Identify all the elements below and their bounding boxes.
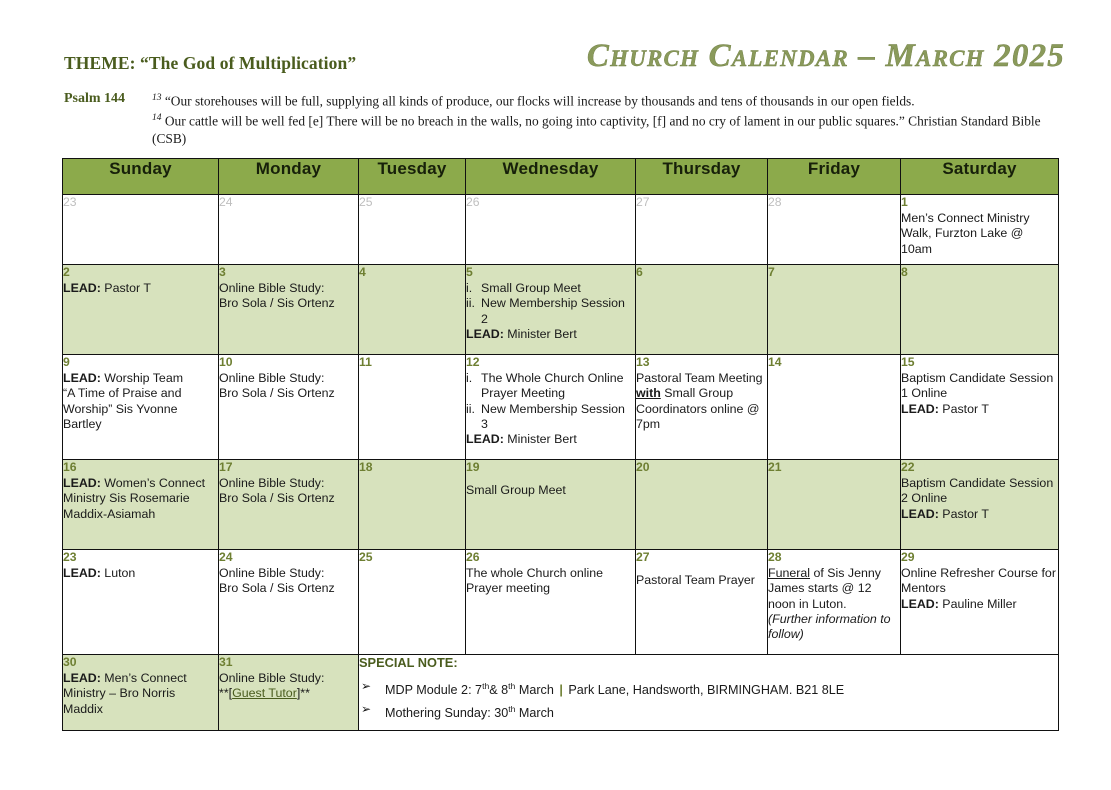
day-number: 20 (636, 460, 767, 475)
day-cell-2[interactable]: 2 LEAD: Pastor T (63, 265, 219, 355)
day-cell-16[interactable]: 16 LEAD: Women’s Connect Ministry Sis Ro… (63, 460, 219, 550)
day-number: 14 (768, 355, 900, 370)
day-cell-25[interactable]: 25 (359, 550, 466, 655)
list-item: ii.New Membership Session 2 (466, 296, 635, 326)
lead-label: LEAD: (63, 671, 101, 685)
event-text: Small Group Meet (466, 483, 635, 498)
day-number: 6 (636, 265, 767, 280)
day-number: 22 (901, 460, 1058, 475)
week-row-1: 23 24 25 26 27 28 1 Me (63, 195, 1059, 265)
weekday-thursday: Thursday (636, 159, 768, 195)
event-text: LEAD: Pastor T (901, 507, 1058, 522)
event-list: i.Small Group Meet ii.New Membership Ses… (466, 281, 635, 327)
calendar-page: THEME: “The God of Multiplication” Churc… (0, 0, 1111, 790)
lead-label: LEAD: (63, 566, 101, 580)
day-cell-13[interactable]: 13 Pastoral Team Meeting with Small Grou… (636, 355, 768, 460)
day-cell-17[interactable]: 17 Online Bible Study: Bro Sola / Sis Or… (219, 460, 359, 550)
day-cell-27[interactable]: 27 Pastoral Team Prayer (636, 550, 768, 655)
day-number: 26 (466, 195, 635, 210)
event-text: The Whole Church Online Prayer Meeting (481, 371, 624, 400)
event-text: Online Bible Study: (219, 371, 358, 386)
event-text: LEAD: Pastor T (63, 281, 218, 296)
event-list: i.The Whole Church Online Prayer Meeting… (466, 371, 635, 432)
event-text: New Membership Session 2 (481, 296, 625, 325)
day-number: 23 (63, 550, 218, 565)
week-row-4: 16 LEAD: Women’s Connect Ministry Sis Ro… (63, 460, 1059, 550)
list-marker: ii. (466, 402, 481, 417)
day-cell-24[interactable]: 24 Online Bible Study: Bro Sola / Sis Or… (219, 550, 359, 655)
day-number: 28 (768, 195, 900, 210)
event-text: Walk, Furzton Lake @ (901, 226, 1058, 241)
day-number: 4 (359, 265, 465, 280)
day-number: 30 (63, 655, 218, 670)
day-cell-7[interactable]: 7 (768, 265, 901, 355)
list-item: i.The Whole Church Online Prayer Meeting (466, 371, 635, 401)
page-title: Church Calendar – March 2025 (455, 38, 1065, 75)
day-cell-feb-25[interactable]: 25 (359, 195, 466, 265)
day-cell-30[interactable]: 30 LEAD: Men’s Connect Ministry – Bro No… (63, 655, 219, 731)
event-text: Online Bible Study: (219, 281, 358, 296)
list-item: ➢ Mothering Sunday: 30th March (359, 700, 1058, 723)
event-text: Baptism Candidate Session 2 Online (901, 476, 1058, 506)
day-number: 16 (63, 460, 218, 475)
day-cell-19[interactable]: 19 Small Group Meet (466, 460, 636, 550)
day-number: 19 (466, 460, 635, 475)
day-number: 1 (901, 195, 1058, 210)
lead-value: Pastor T (101, 281, 151, 295)
verse-14-text: Our cattle will be well fed [e] There wi… (152, 113, 1041, 146)
event-text: LEAD: Pastor T (901, 402, 1058, 417)
note-text-tail: Park Lane, Handsworth, BIRMINGHAM. B21 8… (565, 683, 844, 697)
note-text-post: March (515, 683, 557, 697)
day-number: 12 (466, 355, 635, 370)
note-text-pre: MDP Module 2: 7 (385, 683, 482, 697)
event-emphasis: Funeral (768, 566, 810, 580)
day-cell-23[interactable]: 23 LEAD: Luton (63, 550, 219, 655)
lead-value: Pastor T (939, 402, 989, 416)
day-number: 25 (359, 195, 465, 210)
lead-label: LEAD: (901, 597, 939, 611)
event-text: LEAD: Minister Bert (466, 432, 635, 447)
list-item: ➢ MDP Module 2: 7th& 8th March | Park La… (359, 677, 1058, 700)
day-number: 13 (636, 355, 767, 370)
weekday-sunday: Sunday (63, 159, 219, 195)
day-number: 10 (219, 355, 358, 370)
event-text: Online Bible Study: (219, 566, 358, 581)
month-grid: Sunday Monday Tuesday Wednesday Thursday… (62, 158, 1059, 731)
day-number: 29 (901, 550, 1058, 565)
note-divider: | (557, 683, 565, 697)
event-text: Bro Sola / Sis Ortenz (219, 491, 358, 506)
theme-line: THEME: “The God of Multiplication” (64, 53, 356, 74)
note-text-mid: & 8 (489, 683, 508, 697)
day-number: 5 (466, 265, 635, 280)
week-row-6: 30 LEAD: Men’s Connect Ministry – Bro No… (63, 655, 1059, 731)
lead-value: Minister Bert (504, 327, 577, 341)
day-cell-29[interactable]: 29 Online Refresher Course for Mentors L… (901, 550, 1059, 655)
event-text: Online Bible Study: (219, 476, 358, 491)
lead-label: LEAD: (63, 371, 101, 385)
note-text-post: March (515, 706, 554, 720)
event-text: Online Bible Study: (219, 671, 358, 686)
list-marker: i. (466, 281, 481, 296)
day-number: 27 (636, 550, 767, 565)
week-row-5: 23 LEAD: Luton 24 Online Bible Study: Br… (63, 550, 1059, 655)
event-text: **[Guest Tutor]** (219, 686, 358, 701)
special-note-panel: SPECIAL NOTE: ➢ MDP Module 2: 7th& 8th M… (359, 655, 1059, 731)
day-number: 23 (63, 195, 218, 210)
verse-13-text: “Our storehouses will be full, supplying… (165, 93, 915, 108)
event-text: Bro Sola / Sis Ortenz (219, 581, 358, 596)
lead-label: LEAD: (466, 432, 504, 446)
arrow-icon: ➢ (361, 700, 371, 719)
event-text: LEAD: Women’s Connect Ministry Sis Rosem… (63, 476, 218, 522)
psalm-reference: Psalm 144 (64, 90, 148, 108)
list-marker: i. (466, 371, 481, 386)
lead-value: Worship Team (101, 371, 183, 385)
day-cell-20[interactable]: 20 (636, 460, 768, 550)
event-text: The whole Church online Prayer meeting (466, 566, 635, 596)
lead-value: Pauline Miller (939, 597, 1017, 611)
lead-label: LEAD: (901, 507, 939, 521)
day-number: 31 (219, 655, 358, 670)
event-text: LEAD: Worship Team (63, 371, 218, 386)
event-text: Men’s Connect Ministry (901, 211, 1058, 226)
day-number: 7 (768, 265, 900, 280)
event-emphasis: with (636, 386, 661, 400)
day-number: 2 (63, 265, 218, 280)
day-number: 21 (768, 460, 900, 475)
lead-value: Minister Bert (504, 432, 577, 446)
day-cell-31[interactable]: 31 Online Bible Study: **[Guest Tutor]** (219, 655, 359, 731)
page-header: THEME: “The God of Multiplication” Churc… (0, 0, 1111, 150)
list-marker: ii. (466, 296, 481, 311)
day-cell-22[interactable]: 22 Baptism Candidate Session 2 Online LE… (901, 460, 1059, 550)
weekday-monday: Monday (219, 159, 359, 195)
day-cell-10[interactable]: 10 Online Bible Study: Bro Sola / Sis Or… (219, 355, 359, 460)
day-number: 26 (466, 550, 635, 565)
arrow-icon: ➢ (361, 677, 371, 696)
day-number: 11 (359, 355, 465, 370)
lead-label: LEAD: (63, 476, 101, 490)
day-cell-4[interactable]: 4 (359, 265, 466, 355)
weekday-wednesday: Wednesday (466, 159, 636, 195)
event-text: Pastoral Team Prayer (636, 573, 767, 588)
scripture-block: Psalm 144 13 “Our storehouses will be fu… (64, 90, 1054, 147)
event-text: Bro Sola / Sis Ortenz (219, 296, 358, 311)
day-number: 25 (359, 550, 465, 565)
day-cell-18[interactable]: 18 (359, 460, 466, 550)
day-cell-feb-24[interactable]: 24 (219, 195, 359, 265)
note-text-pre: Mothering Sunday: 30 (385, 706, 508, 720)
verse-13-number: 13 (152, 93, 162, 103)
event-text-post: ]** (297, 686, 310, 700)
event-note: (Further information to follow) (768, 612, 900, 642)
week-row-2: 2 LEAD: Pastor T 3 Online Bible Study: B… (63, 265, 1059, 355)
week-row-3: 9 LEAD: Worship Team “A Time of Praise a… (63, 355, 1059, 460)
event-text: Funeral of Sis Jenny James starts @ 12 n… (768, 566, 900, 612)
day-number: 28 (768, 550, 900, 565)
day-cell-feb-27[interactable]: 27 (636, 195, 768, 265)
lead-label: LEAD: (466, 327, 504, 341)
special-note-list: ➢ MDP Module 2: 7th& 8th March | Park La… (359, 677, 1058, 723)
day-number: 27 (636, 195, 767, 210)
day-number: 8 (901, 265, 1058, 280)
psalm-body: 13 “Our storehouses will be full, supply… (152, 90, 1054, 147)
day-number: 24 (219, 550, 358, 565)
event-text: LEAD: Men’s Connect Ministry – Bro Norri… (63, 671, 218, 717)
day-number: 24 (219, 195, 358, 210)
list-item: i.Small Group Meet (466, 281, 635, 296)
event-text: Online Refresher Course for Mentors (901, 566, 1058, 596)
day-number: 3 (219, 265, 358, 280)
guest-tutor-link[interactable]: Guest Tutor (232, 686, 297, 700)
day-number: 17 (219, 460, 358, 475)
day-cell-11[interactable]: 11 (359, 355, 466, 460)
event-text: Pastoral Team Meeting with Small Group C… (636, 371, 767, 432)
day-cell-21[interactable]: 21 (768, 460, 901, 550)
event-text: LEAD: Pauline Miller (901, 597, 1058, 612)
day-cell-9[interactable]: 9 LEAD: Worship Team “A Time of Praise a… (63, 355, 219, 460)
lead-value: Luton (101, 566, 135, 580)
day-cell-12[interactable]: 12 i.The Whole Church Online Prayer Meet… (466, 355, 636, 460)
event-text: LEAD: Luton (63, 566, 218, 581)
verse-14-number: 14 (152, 113, 162, 123)
weekday-header-row: Sunday Monday Tuesday Wednesday Thursday… (63, 159, 1059, 195)
lead-value: Pastor T (939, 507, 989, 521)
day-number: 15 (901, 355, 1058, 370)
weekday-saturday: Saturday (901, 159, 1059, 195)
event-text-pre: Pastoral Team Meeting (636, 371, 763, 385)
day-cell-feb-23[interactable]: 23 (63, 195, 219, 265)
event-text: 10am (901, 242, 1058, 257)
weekday-tuesday: Tuesday (359, 159, 466, 195)
weekday-friday: Friday (768, 159, 901, 195)
day-cell-26[interactable]: 26 The whole Church online Prayer meetin… (466, 550, 636, 655)
event-text: Small Group Meet (481, 281, 581, 295)
day-number: 18 (359, 460, 465, 475)
day-cell-28[interactable]: 28 Funeral of Sis Jenny James starts @ 1… (768, 550, 901, 655)
day-cell-3[interactable]: 3 Online Bible Study: Bro Sola / Sis Ort… (219, 265, 359, 355)
event-text-pre: **[ (219, 686, 232, 700)
event-text: “A Time of Praise and Worship” Sis Yvonn… (63, 386, 218, 432)
lead-label: LEAD: (63, 281, 101, 295)
event-text: Bro Sola / Sis Ortenz (219, 386, 358, 401)
day-number: 9 (63, 355, 218, 370)
day-cell-feb-28[interactable]: 28 (768, 195, 901, 265)
special-note-title: SPECIAL NOTE: (359, 655, 1058, 670)
day-cell-15[interactable]: 15 Baptism Candidate Session 1 Online LE… (901, 355, 1059, 460)
day-cell-14[interactable]: 14 (768, 355, 901, 460)
event-text: New Membership Session 3 (481, 402, 625, 431)
event-text: LEAD: Minister Bert (466, 327, 635, 342)
day-cell-1[interactable]: 1 Men’s Connect Ministry Walk, Furzton L… (901, 195, 1059, 265)
day-cell-8[interactable]: 8 (901, 265, 1059, 355)
day-cell-feb-26[interactable]: 26 (466, 195, 636, 265)
day-cell-6[interactable]: 6 (636, 265, 768, 355)
day-cell-5[interactable]: 5 i.Small Group Meet ii.New Membership S… (466, 265, 636, 355)
lead-label: LEAD: (901, 402, 939, 416)
event-text: Baptism Candidate Session 1 Online (901, 371, 1058, 401)
list-item: ii.New Membership Session 3 (466, 402, 635, 432)
